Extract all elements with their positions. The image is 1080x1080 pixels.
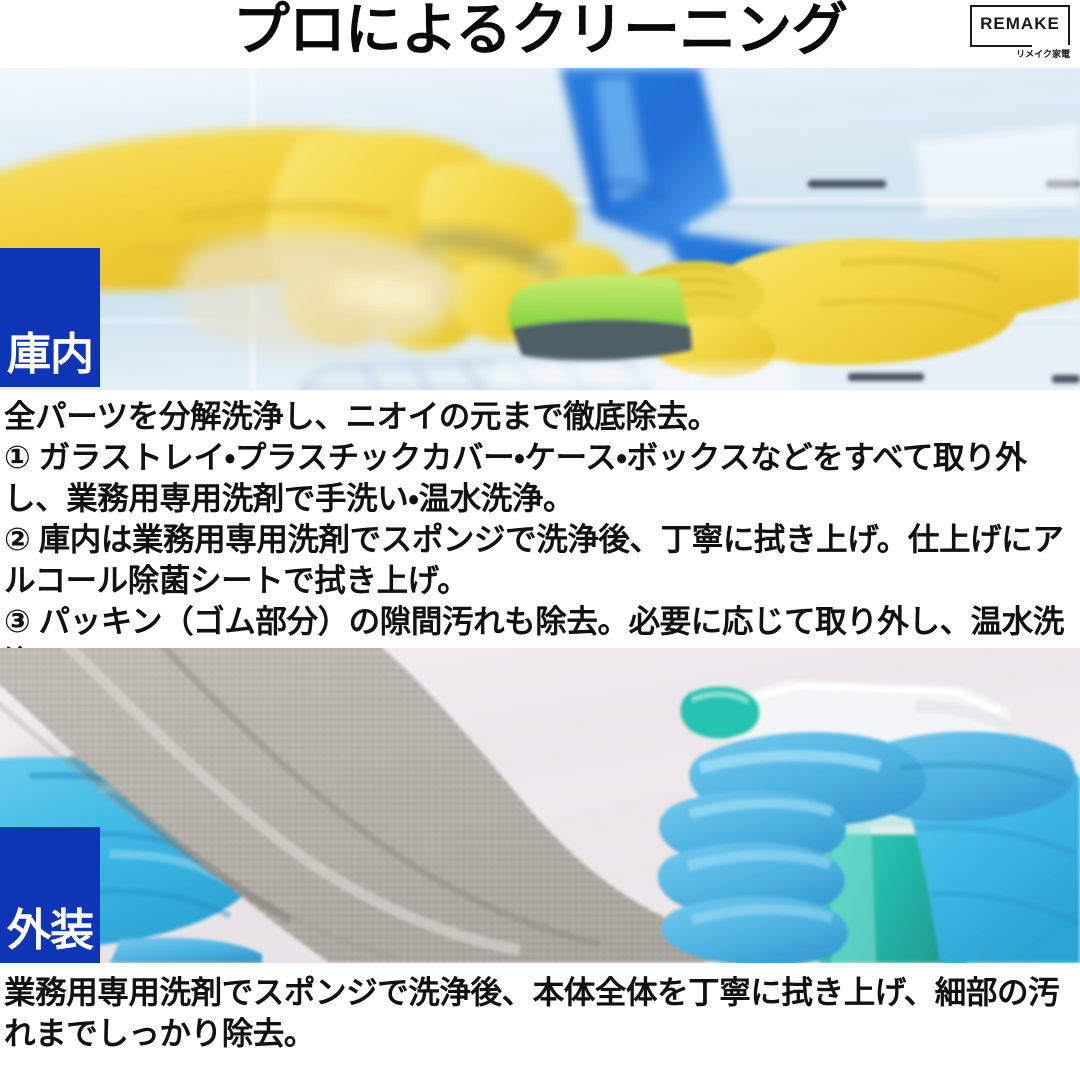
brand-logo: REMAKE リメイク家電 xyxy=(970,5,1070,59)
badge-label-interior: 庫内 xyxy=(0,333,100,377)
header: プロによるクリーニング REMAKE リメイク家電 xyxy=(0,0,1080,68)
photo-exterior-cleaning xyxy=(0,648,1080,963)
page-title: プロによるクリーニング xyxy=(0,0,1080,64)
brand-name: REMAKE xyxy=(970,5,1070,43)
description-interior: 全パーツを分解洗浄し、ニオイの元まで徹底除去。 ① ガラストレイ・プラスチックカ… xyxy=(4,396,1076,683)
brand-subtitle: リメイク家電 xyxy=(1016,47,1070,60)
description-line: 全パーツを分解洗浄し、ニオイの元まで徹底除去。 xyxy=(4,396,1076,437)
description-line: 業務用専用洗剤でスポンジで洗浄後、本体全体を丁寧に拭き上げ、細部の汚れまでしっか… xyxy=(4,972,1076,1054)
description-line: ② 庫内は業務用専用洗剤でスポンジで洗浄後、丁寧に拭き上げ。仕上げにアルコール除… xyxy=(4,519,1076,601)
section-badge-interior: 庫内 xyxy=(0,248,100,387)
description-exterior: 業務用専用洗剤でスポンジで洗浄後、本体全体を丁寧に拭き上げ、細部の汚れまでしっか… xyxy=(4,972,1076,1054)
cleaning-service-infographic: プロによるクリーニング REMAKE リメイク家電 xyxy=(0,0,1080,1080)
exterior-photo-art xyxy=(0,648,1080,963)
fridge-photo-art xyxy=(0,68,1080,390)
section-badge-exterior: 外装 xyxy=(0,827,100,963)
description-line: ① ガラストレイ・プラスチックカバー・ケース・ボックスなどをすべて取り外し、業務… xyxy=(4,437,1076,519)
badge-label-exterior: 外装 xyxy=(0,909,100,953)
photo-refrigerator-interior-cleaning xyxy=(0,68,1080,390)
